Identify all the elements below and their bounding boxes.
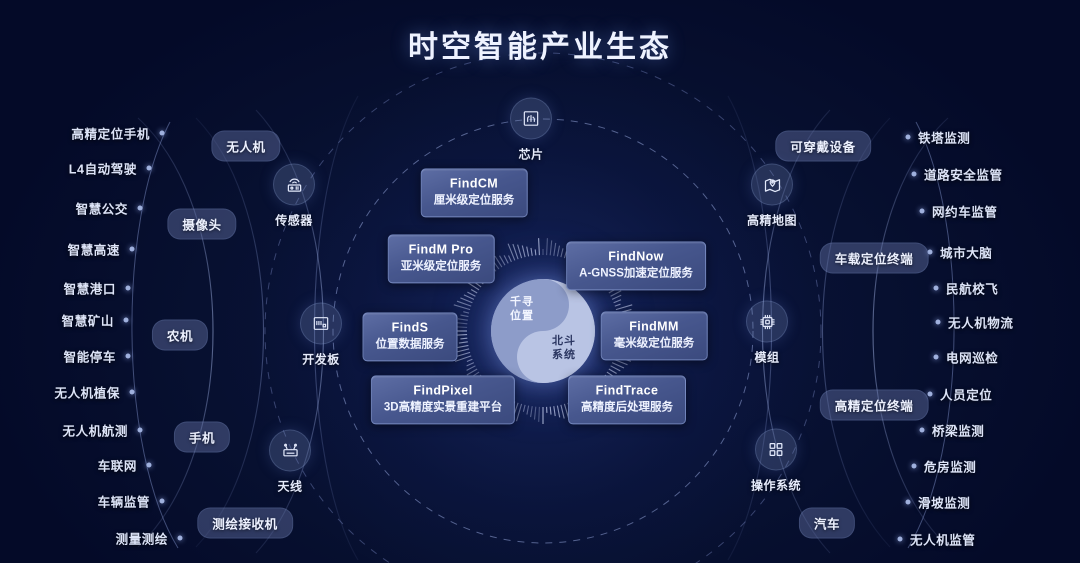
leaf-label-left-12[interactable]: 测量测绘 <box>116 529 168 548</box>
leaf-dot-left-3 <box>138 206 143 211</box>
product-card-findpixel[interactable]: FindPixel 3D高精度实景重建平台 <box>371 375 515 424</box>
leaf-label-right-2[interactable]: 道路安全监管 <box>924 165 1003 184</box>
core-lobe-top <box>517 279 569 331</box>
pill-vehicle-terminal[interactable]: 车载定位终端 <box>820 243 929 274</box>
leaf-label-left-3[interactable]: 智慧公交 <box>76 199 128 218</box>
product-card-findnow[interactable]: FindNow A-GNSS加速定位服务 <box>566 241 706 290</box>
product-desc: A-GNSS加速定位服务 <box>579 266 693 282</box>
leaf-dot-right-3 <box>920 209 925 214</box>
product-card-findtrace[interactable]: FindTrace 高精度后处理服务 <box>568 375 686 424</box>
pill-wearable-device[interactable]: 可穿戴设备 <box>775 131 871 162</box>
leaf-dot-right-10 <box>912 464 917 469</box>
product-desc: 厘米级定位服务 <box>434 193 515 209</box>
product-name: FindTrace <box>581 383 673 399</box>
leaf-dot-right-12 <box>898 537 903 542</box>
leaf-label-right-5[interactable]: 民航校飞 <box>946 279 998 298</box>
leaf-label-right-3[interactable]: 网约车监管 <box>932 202 998 221</box>
product-card-findmm[interactable]: FindMM 毫米级定位服务 <box>601 311 708 360</box>
os-grid-icon <box>755 429 797 471</box>
leaf-label-right-6[interactable]: 无人机物流 <box>948 313 1014 332</box>
product-desc: 3D高精度实景重建平台 <box>384 400 502 416</box>
leaf-label-right-10[interactable]: 危房监测 <box>924 457 976 476</box>
leaf-dot-left-6 <box>124 318 129 323</box>
leaf-label-left-10[interactable]: 车联网 <box>98 456 137 475</box>
product-desc: 高精度后处理服务 <box>581 400 673 416</box>
core-yinyang <box>491 279 595 383</box>
leaf-dot-right-6 <box>936 320 941 325</box>
product-name: FindPixel <box>384 383 502 399</box>
pill-drone[interactable]: 无人机 <box>211 131 280 162</box>
leaf-dot-right-8 <box>928 392 933 397</box>
pill-agri-machine[interactable]: 农机 <box>152 320 208 351</box>
orbit-arc-right-outer <box>908 122 954 548</box>
leaf-dot-right-5 <box>934 286 939 291</box>
pill-mobile-phone[interactable]: 手机 <box>174 422 230 453</box>
leaf-dot-left-1 <box>160 131 165 136</box>
leaf-label-right-4[interactable]: 城市大脑 <box>940 243 992 262</box>
antenna-icon <box>269 430 311 472</box>
leaf-dot-left-9 <box>138 428 143 433</box>
product-name: FindM Pro <box>401 242 482 258</box>
product-card-findm-pro[interactable]: FindM Pro 亚米级定位服务 <box>388 234 495 283</box>
product-name: FindNow <box>579 249 693 265</box>
icon-node-hd-map[interactable]: 高精地图 <box>747 164 797 229</box>
chip-layout-icon <box>510 98 552 140</box>
orbit-arc-right-2 <box>823 118 891 547</box>
core-lobe-bottom <box>517 331 569 383</box>
map-pin-icon <box>751 164 793 206</box>
pill-survey-receiver[interactable]: 测绘接收机 <box>197 508 293 539</box>
leaf-dot-right-7 <box>934 355 939 360</box>
icon-node-chip[interactable]: 芯片 <box>510 98 552 163</box>
leaf-label-right-7[interactable]: 电网巡检 <box>946 348 998 367</box>
leaf-label-right-1[interactable]: 铁塔监测 <box>918 128 970 147</box>
leaf-label-right-9[interactable]: 桥梁监测 <box>932 421 984 440</box>
leaf-dot-left-11 <box>160 499 165 504</box>
product-name: FindMM <box>614 319 695 335</box>
icon-node-label: 模组 <box>746 349 788 366</box>
pill-hd-positioning-terminal[interactable]: 高精定位终端 <box>820 390 929 421</box>
leaf-label-right-8[interactable]: 人员定位 <box>940 385 992 404</box>
leaf-dot-right-11 <box>906 500 911 505</box>
icon-node-label: 操作系统 <box>751 477 801 494</box>
product-desc: 亚米级定位服务 <box>401 259 482 275</box>
page-title: 时空智能产业生态 <box>0 22 1080 66</box>
product-name: FindS <box>376 320 445 336</box>
leaf-label-left-8[interactable]: 无人机植保 <box>54 383 120 402</box>
product-desc: 毫米级定位服务 <box>614 336 695 352</box>
sensor-icon <box>273 164 315 206</box>
leaf-label-left-1[interactable]: 高精定位手机 <box>71 124 150 143</box>
leaf-label-right-12[interactable]: 无人机监管 <box>910 530 976 549</box>
leaf-dot-right-1 <box>906 135 911 140</box>
leaf-dot-left-2 <box>147 166 152 171</box>
icon-node-module[interactable]: 模组 <box>746 301 788 366</box>
product-card-finds[interactable]: FindS 位置数据服务 <box>363 312 458 361</box>
icon-node-label: 高精地图 <box>747 212 797 229</box>
ecosystem-diagram-canvas: 时空智能产业生态 千寻位置 北斗系统 FindCM 厘米级定位服务 FindM … <box>0 0 1080 563</box>
icon-node-label: 芯片 <box>510 146 552 163</box>
icon-node-dev-board[interactable]: 开发板 <box>300 303 342 368</box>
dev-board-icon <box>300 303 342 345</box>
product-card-findcm[interactable]: FindCM 厘米级定位服务 <box>421 168 528 217</box>
leaf-dot-right-2 <box>912 172 917 177</box>
icon-node-label: 传感器 <box>273 212 315 229</box>
leaf-dot-right-9 <box>920 428 925 433</box>
leaf-label-right-11[interactable]: 滑坡监测 <box>918 493 970 512</box>
product-name: FindCM <box>434 176 515 192</box>
icon-node-sensor[interactable]: 传感器 <box>273 164 315 229</box>
icon-node-label: 天线 <box>269 478 311 495</box>
icon-node-antenna[interactable]: 天线 <box>269 430 311 495</box>
leaf-label-left-9[interactable]: 无人机航测 <box>62 421 128 440</box>
pill-camera[interactable]: 摄像头 <box>167 209 236 240</box>
leaf-label-left-7[interactable]: 智能停车 <box>64 347 116 366</box>
pill-automobile[interactable]: 汽车 <box>799 508 855 539</box>
leaf-label-left-11[interactable]: 车辆监管 <box>98 492 150 511</box>
product-desc: 位置数据服务 <box>376 337 445 353</box>
leaf-dot-left-7 <box>126 354 131 359</box>
leaf-dot-left-4 <box>130 247 135 252</box>
leaf-label-left-2[interactable]: L4自动驾驶 <box>69 159 137 178</box>
leaf-dot-left-12 <box>178 536 183 541</box>
leaf-label-left-4[interactable]: 智慧高速 <box>68 240 120 259</box>
leaf-dot-left-8 <box>130 390 135 395</box>
icon-node-label: 开发板 <box>300 351 342 368</box>
leaf-dot-left-10 <box>147 463 152 468</box>
leaf-dot-left-5 <box>126 286 131 291</box>
module-chip-icon <box>746 301 788 343</box>
leaf-label-left-6[interactable]: 智慧矿山 <box>62 311 114 330</box>
leaf-label-left-5[interactable]: 智慧港口 <box>64 279 116 298</box>
icon-node-operating-system[interactable]: 操作系统 <box>751 429 801 494</box>
